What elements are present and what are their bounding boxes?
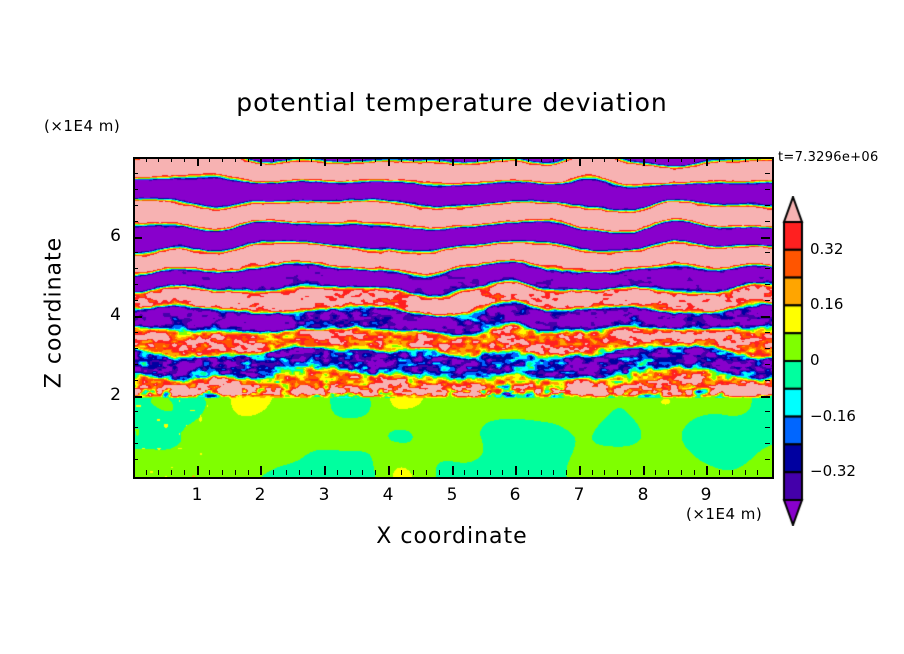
x-minor-tick-top (337, 157, 338, 162)
x-tick-label: 9 (691, 485, 721, 505)
x-major-tick-top (706, 157, 708, 166)
x-minor-tick-top (604, 157, 605, 162)
y-minor-tick (133, 268, 138, 269)
x-minor-tick (655, 470, 656, 475)
x-minor-tick-top (719, 157, 720, 162)
x-major-tick-top (388, 157, 390, 166)
y-minor-tick (133, 443, 138, 444)
y-minor-tick-right (765, 443, 770, 444)
x-minor-tick-top (350, 157, 351, 162)
x-minor-tick (184, 470, 185, 475)
x-minor-tick-top (222, 157, 223, 162)
y-minor-tick (133, 364, 138, 365)
x-minor-tick-top (502, 157, 503, 162)
x-minor-tick (694, 470, 695, 475)
y-major-tick (133, 237, 142, 239)
x-minor-tick-top (668, 157, 669, 162)
x-minor-tick-top (439, 157, 440, 162)
x-minor-tick-top (299, 157, 300, 162)
x-tick-label: 8 (628, 485, 658, 505)
y-minor-tick-right (765, 284, 770, 285)
x-minor-tick-top (757, 157, 758, 162)
chart-title: potential temperature deviation (0, 88, 904, 117)
y-minor-tick (133, 173, 138, 174)
x-minor-tick (490, 470, 491, 475)
x-minor-tick-top (235, 157, 236, 162)
x-minor-tick-top (617, 157, 618, 162)
y-minor-tick-right (765, 364, 770, 365)
y-minor-tick-right (765, 427, 770, 428)
x-tick-label: 1 (182, 485, 212, 505)
x-minor-tick-top (566, 157, 567, 162)
x-axis-title: X coordinate (222, 524, 682, 549)
x-major-tick (260, 466, 262, 475)
x-minor-tick (311, 470, 312, 475)
x-minor-tick (222, 470, 223, 475)
x-minor-tick-top (655, 157, 656, 162)
x-minor-tick-top (541, 157, 542, 162)
y-minor-tick (133, 252, 138, 253)
y-minor-tick (133, 221, 138, 222)
x-tick-label: 2 (245, 485, 275, 505)
x-minor-tick (604, 470, 605, 475)
x-major-tick (643, 466, 645, 475)
x-minor-tick (362, 470, 363, 475)
colorbar-tick-label: −0.16 (810, 407, 856, 425)
y-minor-tick-right (765, 205, 770, 206)
x-tick-label: 6 (500, 485, 530, 505)
x-major-tick-top (324, 157, 326, 166)
x-axis-unit-label: (×1E4 m) (686, 505, 762, 523)
y-minor-tick (133, 427, 138, 428)
y-minor-tick-right (765, 173, 770, 174)
x-minor-tick (337, 470, 338, 475)
x-minor-tick-top (171, 157, 172, 162)
y-minor-tick (133, 332, 138, 333)
y-axis-unit-label: (×1E4 m) (44, 117, 120, 135)
y-minor-tick-right (765, 348, 770, 349)
x-minor-tick (235, 470, 236, 475)
x-minor-tick-top (413, 157, 414, 162)
x-major-tick (388, 466, 390, 475)
colorbar-tick-label: 0.32 (810, 240, 843, 258)
x-minor-tick-top (464, 157, 465, 162)
x-minor-tick-top (592, 157, 593, 162)
y-minor-tick-right (765, 332, 770, 333)
x-minor-tick (592, 470, 593, 475)
x-minor-tick (464, 470, 465, 475)
figure-canvas: potential temperature deviation (×1E4 m)… (0, 0, 904, 654)
x-minor-tick-top (732, 157, 733, 162)
x-minor-tick (401, 470, 402, 475)
y-minor-tick (133, 205, 138, 206)
x-minor-tick (375, 470, 376, 475)
y-major-tick-right (761, 396, 770, 398)
x-minor-tick-top (375, 157, 376, 162)
y-minor-tick-right (765, 189, 770, 190)
y-minor-tick (133, 348, 138, 349)
x-minor-tick-top (553, 157, 554, 162)
x-tick-label: 7 (564, 485, 594, 505)
y-minor-tick-right (765, 380, 770, 381)
y-tick-label: 4 (91, 305, 121, 325)
colorbar-tick-label: 0 (810, 351, 820, 369)
y-minor-tick-right (765, 221, 770, 222)
x-minor-tick (668, 470, 669, 475)
x-minor-tick (426, 470, 427, 475)
x-minor-tick (286, 470, 287, 475)
x-tick-label: 4 (373, 485, 403, 505)
x-major-tick (197, 466, 199, 475)
x-minor-tick (719, 470, 720, 475)
x-minor-tick (477, 470, 478, 475)
x-major-tick-top (197, 157, 199, 166)
x-minor-tick-top (273, 157, 274, 162)
x-minor-tick (299, 470, 300, 475)
y-major-tick-right (761, 237, 770, 239)
x-minor-tick (757, 470, 758, 475)
contour-field (135, 159, 772, 477)
x-major-tick (452, 466, 454, 475)
x-minor-tick (553, 470, 554, 475)
x-minor-tick (248, 470, 249, 475)
x-major-tick (324, 466, 326, 475)
x-minor-tick (541, 470, 542, 475)
colorbar-tick-label: −0.32 (810, 462, 856, 480)
x-minor-tick-top (158, 157, 159, 162)
x-minor-tick-top (681, 157, 682, 162)
y-axis-title: Z coordinate (42, 223, 67, 403)
y-major-tick (133, 396, 142, 398)
y-tick-label: 6 (91, 226, 121, 246)
y-minor-tick (133, 189, 138, 190)
colorbar: 0.320.160−0.16−0.32 (778, 196, 818, 526)
x-minor-tick-top (528, 157, 529, 162)
x-major-tick-top (643, 157, 645, 166)
y-minor-tick-right (765, 459, 770, 460)
x-major-tick-top (579, 157, 581, 166)
x-major-tick-top (452, 157, 454, 166)
x-minor-tick-top (490, 157, 491, 162)
x-tick-label: 5 (437, 485, 467, 505)
x-minor-tick-top (209, 157, 210, 162)
y-minor-tick-right (765, 411, 770, 412)
y-minor-tick (133, 411, 138, 412)
y-major-tick-right (761, 316, 770, 318)
x-minor-tick (566, 470, 567, 475)
x-minor-tick (681, 470, 682, 475)
x-minor-tick (439, 470, 440, 475)
x-major-tick (515, 466, 517, 475)
x-minor-tick (745, 470, 746, 475)
x-major-tick (706, 466, 708, 475)
y-minor-tick (133, 459, 138, 460)
x-minor-tick-top (426, 157, 427, 162)
x-minor-tick-top (694, 157, 695, 162)
x-minor-tick (158, 470, 159, 475)
x-minor-tick-top (146, 157, 147, 162)
x-major-tick (579, 466, 581, 475)
x-minor-tick (528, 470, 529, 475)
x-minor-tick (273, 470, 274, 475)
x-minor-tick (146, 470, 147, 475)
x-minor-tick (617, 470, 618, 475)
x-minor-tick-top (286, 157, 287, 162)
y-minor-tick-right (765, 300, 770, 301)
x-major-tick-top (260, 157, 262, 166)
timestamp-annotation: t=7.3296e+06 (778, 150, 879, 165)
x-minor-tick-top (630, 157, 631, 162)
x-minor-tick (413, 470, 414, 475)
y-minor-tick-right (765, 252, 770, 253)
x-minor-tick-top (184, 157, 185, 162)
y-tick-label: 2 (91, 385, 121, 405)
colorbar-tick-label: 0.16 (810, 295, 843, 313)
x-minor-tick (502, 470, 503, 475)
y-minor-tick-right (765, 268, 770, 269)
x-minor-tick-top (745, 157, 746, 162)
x-minor-tick (209, 470, 210, 475)
plot-area (133, 157, 774, 479)
x-minor-tick-top (311, 157, 312, 162)
y-minor-tick (133, 300, 138, 301)
x-minor-tick (171, 470, 172, 475)
x-minor-tick-top (362, 157, 363, 162)
x-minor-tick (630, 470, 631, 475)
x-tick-label: 3 (309, 485, 339, 505)
x-minor-tick (732, 470, 733, 475)
x-minor-tick-top (248, 157, 249, 162)
y-major-tick (133, 316, 142, 318)
x-minor-tick-top (477, 157, 478, 162)
x-minor-tick (350, 470, 351, 475)
x-minor-tick-top (401, 157, 402, 162)
y-minor-tick (133, 284, 138, 285)
x-major-tick-top (515, 157, 517, 166)
y-minor-tick (133, 380, 138, 381)
